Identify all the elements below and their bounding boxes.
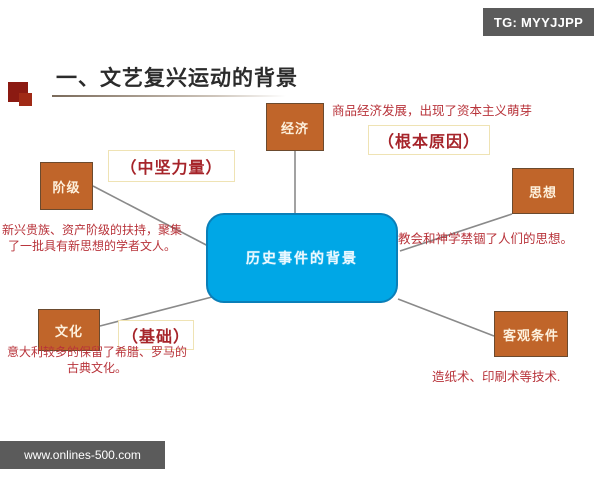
center-node-label: 历史事件的背景	[246, 248, 358, 268]
annotation-culture: 意大利较多的保留了希腊、罗马的古典文化。	[2, 344, 192, 376]
footer-watermark: www.onlines-500.com	[0, 441, 165, 469]
annotation-economy: 商品经济发展，出现了资本主义萌芽	[332, 103, 532, 119]
tag-fundamental-cause: （根本原因）	[368, 125, 490, 155]
annotation-objective-conditions: 造纸术、印刷术等技术.	[432, 369, 560, 385]
node-economy[interactable]: 经济	[266, 103, 324, 151]
annotation-class: 新兴贵族、资产阶级的扶持，聚集了一批具有新思想的学者文人。	[2, 222, 182, 254]
node-objective-conditions[interactable]: 客观条件	[494, 311, 568, 357]
center-node-background[interactable]: 历史事件的背景	[206, 213, 398, 303]
slide-canvas: TG: MYYJJPP 一、文艺复兴运动的背景 经济 阶级 思想 文化 客观条件…	[0, 0, 600, 480]
node-class[interactable]: 阶级	[40, 162, 93, 210]
annotation-ideology: 教会和神学禁锢了人们的思想。	[398, 231, 573, 247]
node-ideology[interactable]: 思想	[512, 168, 574, 214]
tag-core-force: （中坚力量）	[108, 150, 235, 182]
